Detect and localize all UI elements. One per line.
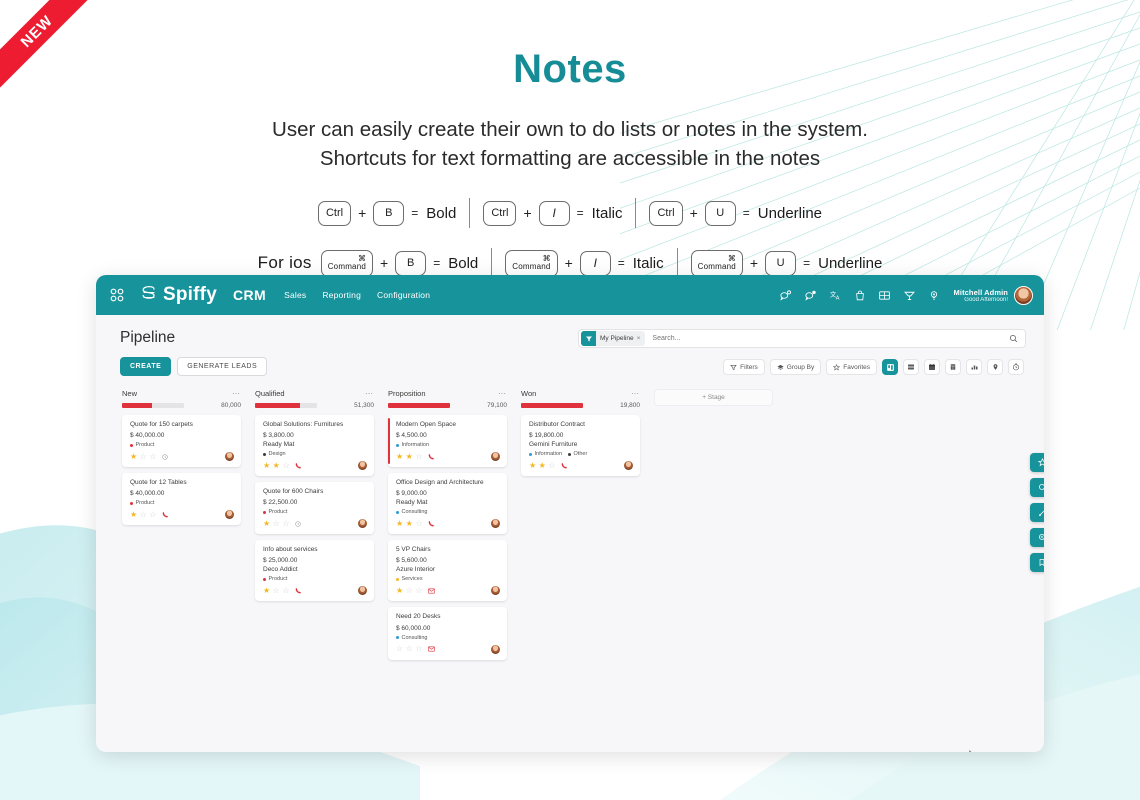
phone-icon bbox=[162, 511, 169, 518]
command-label: Command bbox=[328, 262, 366, 271]
avatar[interactable] bbox=[491, 645, 500, 654]
card-tags: Design bbox=[263, 451, 367, 457]
card-tag-label: Product bbox=[136, 500, 155, 506]
star-icon[interactable]: ★ bbox=[406, 453, 413, 461]
key-ctrl: Ctrl bbox=[649, 201, 682, 226]
card-tag: Services bbox=[396, 576, 423, 582]
star-icon[interactable]: ☆ bbox=[406, 645, 413, 653]
card-tag: Consulting bbox=[396, 635, 428, 641]
equals-sign: = bbox=[411, 206, 418, 220]
user-text: Mitchell Admin Good Afternoon! bbox=[954, 288, 1008, 303]
brand-name: Spiffy bbox=[163, 284, 217, 306]
kanban-icon bbox=[886, 363, 895, 372]
activity-indicator[interactable] bbox=[428, 453, 435, 460]
star-icon[interactable]: ★ bbox=[130, 453, 137, 461]
column-header: New ⋯ bbox=[122, 389, 241, 398]
generate-leads-button[interactable]: GENERATE LEADS bbox=[177, 357, 267, 376]
key-i: I bbox=[539, 201, 570, 226]
shortcut-row-windows: Ctrl + B = Bold Ctrl + I = Italic Ctrl +… bbox=[0, 191, 1140, 235]
star-icon[interactable]: ☆ bbox=[415, 453, 422, 461]
star-icon bbox=[833, 364, 840, 371]
kanban-column-qualified: Qualified ⋯ 51,300 Global Solutions: Fur… bbox=[255, 389, 374, 660]
card-tag-label: Design bbox=[269, 451, 286, 457]
mail-icon bbox=[428, 588, 435, 594]
bulb-icon[interactable] bbox=[928, 289, 940, 302]
group-by-button[interactable]: Group By bbox=[770, 359, 821, 375]
card-rating[interactable]: ★ ☆ ☆ bbox=[130, 511, 157, 519]
card-title: Office Design and Architecture bbox=[396, 479, 500, 487]
card-tag-label: Product bbox=[269, 576, 288, 582]
star-icon[interactable]: ☆ bbox=[406, 587, 413, 595]
app-window: Spiffy CRM Sales Reporting Configuration… bbox=[96, 275, 1044, 752]
equals-sign: = bbox=[743, 206, 750, 220]
card-customer: Ready Mat bbox=[396, 499, 500, 506]
avatar[interactable] bbox=[358, 519, 367, 528]
card-amount: $ 25,000.00 bbox=[263, 557, 367, 564]
star-icon[interactable]: ★ bbox=[263, 520, 270, 528]
card-tag-label: Services bbox=[402, 576, 423, 582]
column-header: Proposition ⋯ bbox=[388, 389, 507, 398]
card-tag: Product bbox=[263, 576, 287, 582]
svg-text:A: A bbox=[835, 295, 839, 301]
search-facet-label: My Pipeline bbox=[596, 335, 637, 342]
plus-sign: + bbox=[380, 255, 388, 271]
phone-icon bbox=[561, 462, 568, 469]
kanban-column-won: Won ⋯ 19,800 Distributor Contract $ 19,8… bbox=[521, 389, 640, 660]
card-footer: ★ ☆ ☆ bbox=[263, 519, 367, 528]
kanban-column-new: New ⋯ 80,000 Quote for 150 carpets $ 40,… bbox=[122, 389, 241, 660]
card-tags: Information Other bbox=[529, 451, 633, 457]
card-tags: Product bbox=[130, 500, 234, 506]
view-mode-graph[interactable] bbox=[966, 359, 982, 375]
view-mode-kanban[interactable] bbox=[882, 359, 898, 375]
card-tags: Consulting bbox=[396, 635, 500, 641]
shortcut-result-italic: Italic bbox=[592, 205, 623, 222]
layers-icon bbox=[777, 364, 784, 371]
kanban-card[interactable]: Quote for 600 Chairs $ 22,500.00 Product… bbox=[255, 482, 374, 534]
column-menu-icon[interactable]: ⋯ bbox=[498, 389, 507, 398]
view-mode-pivot[interactable] bbox=[945, 359, 961, 375]
search-icon bbox=[1038, 483, 1045, 492]
card-tag-label: Product bbox=[269, 509, 288, 515]
card-amount: $ 4,500.00 bbox=[396, 432, 500, 439]
card-rating[interactable]: ★ ☆ ☆ bbox=[263, 587, 290, 595]
star-icon[interactable]: ☆ bbox=[396, 645, 403, 653]
shortcut-result-bold: Bold bbox=[448, 255, 478, 272]
group-by-label: Group By bbox=[787, 364, 814, 371]
shortcut-result-underline: Underline bbox=[758, 205, 822, 222]
key-b: B bbox=[395, 251, 426, 276]
column-amount: 51,300 bbox=[354, 402, 374, 409]
activity-indicator[interactable] bbox=[561, 462, 568, 469]
card-tag: Product bbox=[130, 442, 154, 448]
shortcut-command-underline: ⌘ Command + U = Underline bbox=[691, 250, 883, 277]
star-icon[interactable]: ☆ bbox=[273, 520, 280, 528]
equals-sign: = bbox=[433, 256, 440, 270]
activity-clock-icon bbox=[1012, 363, 1020, 371]
search-icon[interactable] bbox=[1009, 334, 1018, 343]
activity-indicator[interactable] bbox=[295, 521, 301, 527]
shortcut-command-italic: ⌘ Command + I = Italic bbox=[505, 250, 663, 277]
top-menu: Sales Reporting Configuration bbox=[284, 290, 430, 300]
shortcut-result-bold: Bold bbox=[426, 205, 456, 222]
breadcrumb-pipeline: Pipeline bbox=[120, 329, 175, 347]
card-title: Need 20 Desks bbox=[396, 613, 500, 621]
card-amount: $ 9,000.00 bbox=[396, 490, 500, 497]
card-tag: Consulting bbox=[396, 509, 428, 515]
kanban-card[interactable]: Need 20 Desks $ 60,000.00 Consulting ☆ ☆… bbox=[388, 607, 507, 659]
card-footer: ★ ☆ ☆ bbox=[130, 452, 234, 461]
filters-button[interactable]: Filters bbox=[723, 359, 765, 375]
rail-expand-button[interactable] bbox=[1030, 503, 1044, 522]
phone-icon bbox=[428, 520, 435, 527]
favorites-button[interactable]: Favorites bbox=[826, 359, 877, 375]
column-name: Proposition bbox=[388, 389, 426, 398]
app-topbar: Spiffy CRM Sales Reporting Configuration… bbox=[96, 275, 1044, 315]
kanban-card[interactable]: Info about services $ 25,000.00 Deco Add… bbox=[255, 540, 374, 601]
card-tag-label: Information bbox=[402, 442, 430, 448]
divider bbox=[677, 248, 678, 278]
card-customer: Gemini Furniture bbox=[529, 441, 633, 448]
card-amount: $ 22,500.00 bbox=[263, 499, 367, 506]
key-i: I bbox=[580, 251, 611, 276]
card-tag: Information bbox=[396, 442, 429, 448]
progress-bar bbox=[521, 403, 583, 408]
avatar[interactable] bbox=[491, 519, 500, 528]
view-mode-list[interactable] bbox=[903, 359, 919, 375]
plus-sign: + bbox=[690, 205, 698, 221]
card-title: Quote for 150 carpets bbox=[130, 421, 234, 429]
column-menu-icon[interactable]: ⋯ bbox=[365, 389, 374, 398]
kanban-card[interactable]: Global Solutions: Furnitures $ 3,800.00 … bbox=[255, 415, 374, 476]
kanban-card[interactable]: Office Design and Architecture $ 9,000.0… bbox=[388, 473, 507, 534]
plus-sign: + bbox=[358, 205, 366, 221]
star-icon[interactable]: ★ bbox=[263, 587, 270, 595]
kanban-card[interactable]: Distributor Contract $ 19,800.00 Gemini … bbox=[521, 415, 640, 476]
progress-bar bbox=[388, 403, 450, 408]
kanban-board: New ⋯ 80,000 Quote for 150 carpets $ 40,… bbox=[96, 375, 1044, 660]
card-rating[interactable]: ★ ★ ☆ bbox=[396, 453, 423, 461]
card-rating[interactable]: ★ ☆ ☆ bbox=[263, 520, 290, 528]
add-stage-column: + Stage bbox=[654, 389, 773, 660]
card-amount: $ 5,600.00 bbox=[396, 557, 500, 564]
card-tags: Product bbox=[263, 509, 367, 515]
card-title: Global Solutions: Furnitures bbox=[263, 421, 367, 429]
kanban-card[interactable]: Quote for 150 carpets $ 40,000.00 Produc… bbox=[122, 415, 241, 467]
key-command: ⌘ Command bbox=[321, 250, 373, 277]
hero-subtitle-line2: Shortcuts for text formatting are access… bbox=[0, 144, 1140, 173]
filter-icon bbox=[581, 331, 596, 346]
plus-sign: + bbox=[565, 255, 573, 271]
star-icon[interactable]: ☆ bbox=[282, 587, 289, 595]
phone-icon bbox=[295, 462, 302, 469]
activity-indicator[interactable] bbox=[428, 646, 435, 652]
avatar[interactable] bbox=[1014, 286, 1033, 305]
card-tag-label: Other bbox=[574, 451, 588, 457]
avatar[interactable] bbox=[491, 586, 500, 595]
calendar-icon bbox=[928, 363, 936, 371]
card-tag-label: Product bbox=[136, 442, 155, 448]
column-amount: 19,800 bbox=[620, 402, 640, 409]
equals-sign: = bbox=[618, 256, 625, 270]
card-tag: Design bbox=[263, 451, 286, 457]
activity-indicator[interactable] bbox=[162, 511, 169, 518]
activity-indicator[interactable] bbox=[295, 587, 302, 594]
star-icon[interactable]: ☆ bbox=[282, 462, 289, 470]
card-rating[interactable]: ★ ☆ ☆ bbox=[396, 587, 423, 595]
clock-icon bbox=[295, 521, 301, 527]
zoom-icon bbox=[1038, 533, 1045, 542]
grid-apps-icon[interactable] bbox=[878, 289, 891, 302]
card-title: Quote for 12 Tables bbox=[130, 479, 234, 487]
divider bbox=[469, 198, 470, 228]
key-u: U bbox=[765, 251, 796, 276]
plus-sign: + bbox=[523, 205, 531, 221]
card-amount: $ 40,000.00 bbox=[130, 490, 234, 497]
card-footer: ☆ ☆ ☆ bbox=[396, 645, 500, 654]
kanban-card[interactable]: 5 VP Chairs $ 5,600.00 Azure Interior Se… bbox=[388, 540, 507, 601]
megaphone-icon[interactable] bbox=[903, 289, 916, 302]
menu-item-configuration[interactable]: Configuration bbox=[377, 290, 430, 300]
star-icon[interactable]: ★ bbox=[396, 587, 403, 595]
card-tags: Services bbox=[396, 576, 500, 582]
avatar[interactable] bbox=[358, 461, 367, 470]
card-tag-label: Consulting bbox=[402, 635, 428, 641]
new-ribbon-label: NEW bbox=[0, 0, 107, 101]
mouse-cursor bbox=[969, 750, 977, 752]
card-amount: $ 60,000.00 bbox=[396, 625, 500, 632]
hero-section: Notes User can easily create their own t… bbox=[0, 0, 1140, 173]
star-icon[interactable]: ★ bbox=[130, 511, 137, 519]
card-title: 5 VP Chairs bbox=[396, 546, 500, 554]
card-tags: Consulting bbox=[396, 509, 500, 515]
shortcut-ctrl-bold: Ctrl + B = Bold bbox=[318, 201, 456, 226]
favorites-label: Favorites bbox=[843, 364, 870, 371]
card-footer: ★ ★ ☆ bbox=[263, 461, 367, 470]
brand-logo[interactable]: Spiffy bbox=[139, 284, 217, 306]
menu-item-sales[interactable]: Sales bbox=[284, 290, 306, 300]
view-mode-activity[interactable] bbox=[1008, 359, 1024, 375]
user-name: Mitchell Admin bbox=[954, 288, 1008, 297]
shortcut-ctrl-underline: Ctrl + U = Underline bbox=[649, 201, 822, 226]
page-title: Notes bbox=[0, 47, 1140, 91]
card-rating[interactable]: ☆ ☆ ☆ bbox=[396, 645, 423, 653]
avatar[interactable] bbox=[358, 586, 367, 595]
divider bbox=[635, 198, 636, 228]
equals-sign: = bbox=[803, 256, 810, 270]
star-icon[interactable]: ★ bbox=[539, 462, 546, 470]
map-pin-icon bbox=[992, 363, 999, 371]
card-footer: ★ ★ ☆ bbox=[396, 452, 500, 461]
view-mode-calendar[interactable] bbox=[924, 359, 940, 375]
control-top-row: Pipeline My Pipeline × bbox=[120, 329, 1026, 348]
card-customer: Deco Addict bbox=[263, 566, 367, 573]
avatar[interactable] bbox=[491, 452, 500, 461]
star-icon[interactable]: ★ bbox=[406, 520, 413, 528]
phone-icon bbox=[428, 453, 435, 460]
key-ctrl: Ctrl bbox=[483, 201, 516, 226]
system-icons: 文 A bbox=[779, 289, 940, 302]
hero-subtitle: User can easily create their own to do l… bbox=[0, 115, 1140, 173]
card-title: Info about services bbox=[263, 546, 367, 554]
card-tag: Other bbox=[568, 451, 587, 457]
star-icon[interactable]: ★ bbox=[396, 520, 403, 528]
star-icon[interactable]: ☆ bbox=[140, 511, 147, 519]
card-amount: $ 3,800.00 bbox=[263, 432, 367, 439]
command-label: Command bbox=[698, 262, 736, 271]
rail-search-button[interactable] bbox=[1030, 478, 1044, 497]
kanban-column-proposition: Proposition ⋯ 79,100 Modern Open Space $… bbox=[388, 389, 507, 660]
shortcuts-section: Ctrl + B = Bold Ctrl + I = Italic Ctrl +… bbox=[0, 191, 1140, 285]
star-icon[interactable]: ☆ bbox=[140, 453, 147, 461]
star-icon[interactable]: ☆ bbox=[149, 511, 156, 519]
hero-subtitle-line1: User can easily create their own to do l… bbox=[0, 115, 1140, 144]
key-u: U bbox=[705, 201, 736, 226]
card-customer: Azure Interior bbox=[396, 566, 500, 573]
star-icon[interactable]: ☆ bbox=[149, 453, 156, 461]
search-input[interactable] bbox=[645, 335, 1009, 342]
avatar[interactable] bbox=[225, 510, 234, 519]
avatar[interactable] bbox=[624, 461, 633, 470]
shortcut-ctrl-italic: Ctrl + I = Italic bbox=[483, 201, 622, 226]
close-icon[interactable]: × bbox=[637, 335, 641, 342]
phone-icon bbox=[295, 587, 302, 594]
card-tag: Product bbox=[263, 509, 287, 515]
column-progress: 19,800 bbox=[521, 402, 640, 409]
star-icon[interactable]: ★ bbox=[273, 462, 280, 470]
command-label: Command bbox=[512, 262, 550, 271]
command-symbol: ⌘ bbox=[543, 255, 551, 262]
activity-indicator[interactable] bbox=[162, 454, 168, 460]
column-amount: 79,100 bbox=[487, 402, 507, 409]
user-greeting: Good Afternoon! bbox=[954, 297, 1008, 303]
plus-sign: + bbox=[750, 255, 758, 271]
star-icon bbox=[1038, 458, 1045, 467]
graph-icon bbox=[970, 363, 979, 371]
star-icon[interactable]: ★ bbox=[396, 453, 403, 461]
clock-icon bbox=[162, 454, 168, 460]
mail-icon bbox=[428, 646, 435, 652]
new-ribbon: NEW bbox=[0, 0, 110, 110]
kanban-card[interactable]: Modern Open Space $ 4,500.00 Information… bbox=[388, 415, 507, 467]
column-name: Qualified bbox=[255, 389, 285, 398]
key-command: ⌘ Command bbox=[691, 250, 743, 277]
card-footer: ★ ☆ ☆ bbox=[130, 510, 234, 519]
progress-bar bbox=[122, 403, 184, 408]
filter-icon bbox=[730, 364, 737, 371]
equals-sign: = bbox=[577, 206, 584, 220]
star-icon[interactable]: ☆ bbox=[415, 587, 422, 595]
card-tag-label: Consulting bbox=[402, 509, 428, 515]
card-tags: Information bbox=[396, 442, 500, 448]
view-mode-map[interactable] bbox=[987, 359, 1003, 375]
column-progress: 79,100 bbox=[388, 402, 507, 409]
rail-zoom-button[interactable] bbox=[1030, 528, 1044, 547]
avatar[interactable] bbox=[225, 452, 234, 461]
card-rating[interactable]: ★ ☆ ☆ bbox=[130, 453, 157, 461]
add-stage-button[interactable]: + Stage bbox=[654, 389, 773, 406]
column-name: Won bbox=[521, 389, 536, 398]
rail-favorites-button[interactable] bbox=[1030, 453, 1044, 472]
column-progress: 51,300 bbox=[255, 402, 374, 409]
floating-rail bbox=[1030, 453, 1044, 572]
user-menu[interactable]: Mitchell Admin Good Afternoon! bbox=[954, 286, 1033, 305]
card-rating[interactable]: ★ ★ ☆ bbox=[263, 462, 290, 470]
card-footer: ★ ☆ ☆ bbox=[263, 586, 367, 595]
list-icon bbox=[907, 363, 915, 371]
card-tag: Product bbox=[130, 500, 154, 506]
card-rating[interactable]: ★ ★ ☆ bbox=[396, 520, 423, 528]
translate-icon[interactable]: 文 A bbox=[829, 289, 842, 302]
rail-bookmark-button[interactable] bbox=[1030, 553, 1044, 572]
column-menu-icon[interactable]: ⋯ bbox=[232, 389, 241, 398]
star-icon[interactable]: ☆ bbox=[415, 645, 422, 653]
ios-prefix-label: For ios bbox=[258, 253, 312, 273]
progress-bar bbox=[255, 403, 317, 408]
star-icon[interactable]: ☆ bbox=[282, 520, 289, 528]
bookmark-icon bbox=[1038, 558, 1044, 567]
spiffy-logo-icon bbox=[139, 285, 159, 305]
activity-indicator[interactable] bbox=[428, 520, 435, 527]
key-command: ⌘ Command bbox=[505, 250, 557, 277]
app-name-label: CRM bbox=[233, 287, 266, 303]
card-title: Quote for 600 Chairs bbox=[263, 488, 367, 496]
card-title: Distributor Contract bbox=[529, 421, 633, 429]
shortcut-result-italic: Italic bbox=[633, 255, 664, 272]
kanban-card[interactable]: Quote for 12 Tables $ 40,000.00 Product … bbox=[122, 473, 241, 525]
star-icon[interactable]: ☆ bbox=[415, 520, 422, 528]
card-footer: ★ ★ ☆ bbox=[529, 461, 633, 470]
control-bar: Pipeline My Pipeline × CREATE GENERATE L… bbox=[96, 315, 1044, 375]
card-title: Modern Open Space bbox=[396, 421, 500, 429]
menu-item-reporting[interactable]: Reporting bbox=[322, 290, 361, 300]
activity-indicator[interactable] bbox=[295, 462, 302, 469]
bag-icon[interactable] bbox=[854, 289, 866, 302]
activity-bubble-icon[interactable] bbox=[804, 289, 817, 302]
card-footer: ★ ★ ☆ bbox=[396, 519, 500, 528]
column-header: Won ⋯ bbox=[521, 389, 640, 398]
create-button[interactable]: CREATE bbox=[120, 357, 171, 376]
card-tag-label: Information bbox=[535, 451, 563, 457]
search-bar[interactable]: My Pipeline × bbox=[578, 329, 1026, 348]
shortcut-result-underline: Underline bbox=[818, 255, 882, 272]
chat-bubble-icon[interactable] bbox=[779, 289, 792, 302]
card-rating[interactable]: ★ ★ ☆ bbox=[529, 462, 556, 470]
key-b: B bbox=[373, 201, 404, 226]
column-amount: 80,000 bbox=[221, 402, 241, 409]
card-footer: ★ ☆ ☆ bbox=[396, 586, 500, 595]
filters-label: Filters bbox=[740, 364, 758, 371]
activity-indicator[interactable] bbox=[428, 588, 435, 594]
card-amount: $ 19,800.00 bbox=[529, 432, 633, 439]
column-header: Qualified ⋯ bbox=[255, 389, 374, 398]
star-icon[interactable]: ☆ bbox=[273, 587, 280, 595]
key-ctrl: Ctrl bbox=[318, 201, 351, 226]
star-icon[interactable]: ★ bbox=[263, 462, 270, 470]
star-icon[interactable]: ☆ bbox=[548, 462, 555, 470]
card-tags: Product bbox=[130, 442, 234, 448]
column-progress: 80,000 bbox=[122, 402, 241, 409]
apps-grid-icon[interactable] bbox=[109, 287, 125, 303]
star-icon[interactable]: ★ bbox=[529, 462, 536, 470]
column-menu-icon[interactable]: ⋯ bbox=[631, 389, 640, 398]
column-name: New bbox=[122, 389, 137, 398]
search-facet-my-pipeline[interactable]: My Pipeline × bbox=[581, 331, 645, 346]
divider bbox=[491, 248, 492, 278]
card-tag: Information bbox=[529, 451, 562, 457]
pivot-icon bbox=[949, 363, 957, 371]
card-tags: Product bbox=[263, 576, 367, 582]
